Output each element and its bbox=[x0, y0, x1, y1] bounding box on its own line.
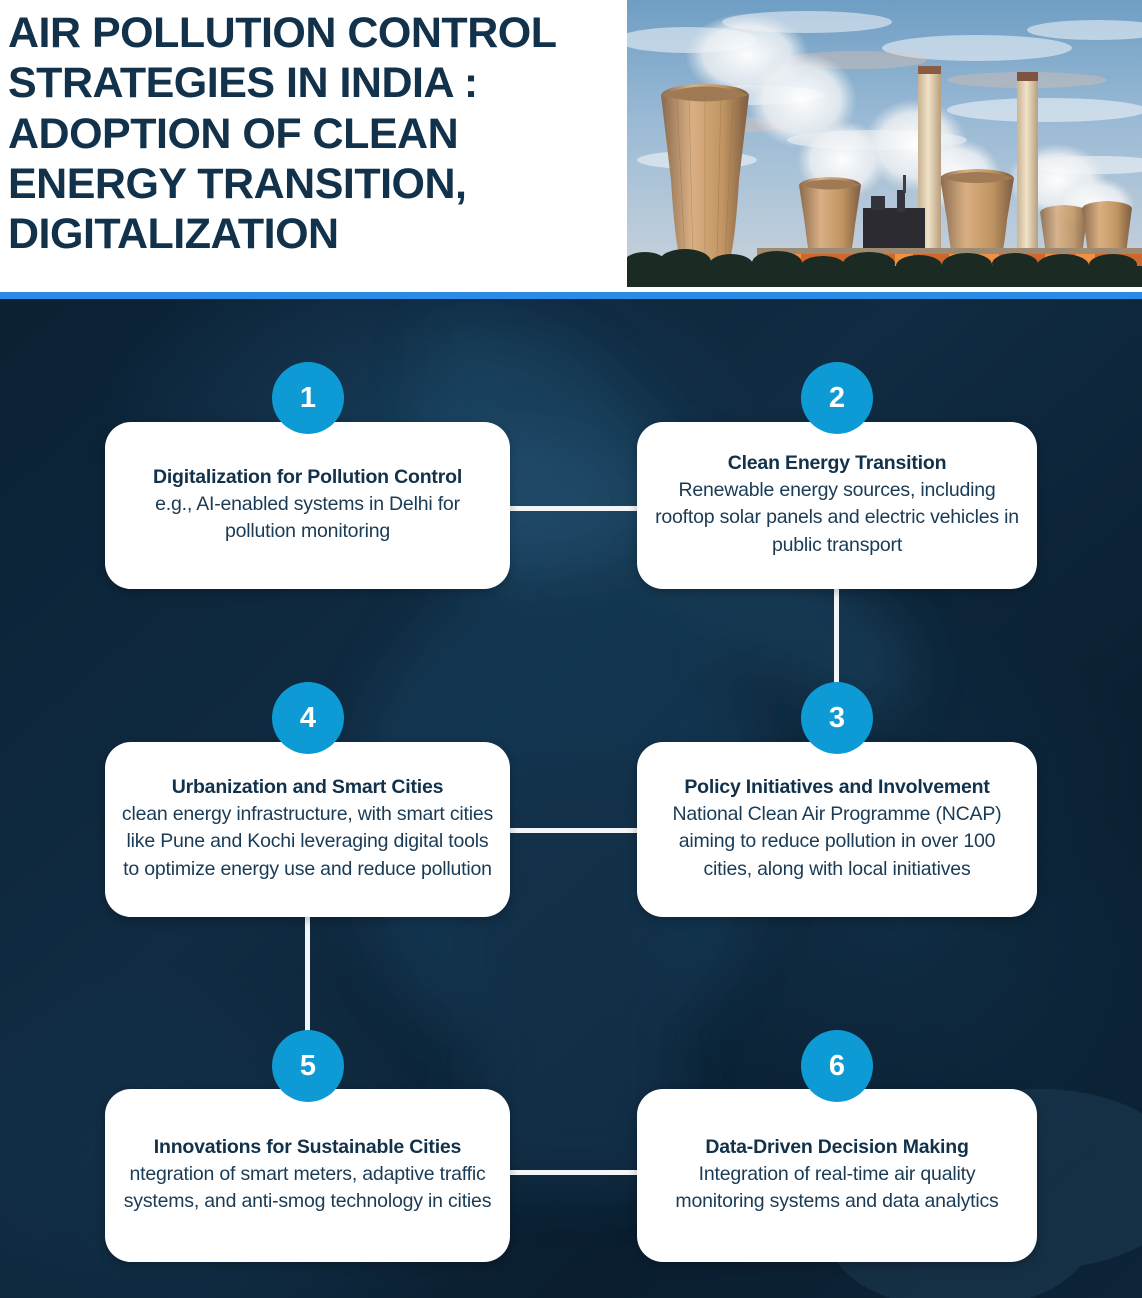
header: AIR POLLUTION CONTROL STRATEGIES IN INDI… bbox=[0, 0, 1142, 292]
connector-1-to-2 bbox=[510, 506, 637, 511]
step-badge-4[interactable]: 4 bbox=[272, 682, 344, 754]
step-badge-1[interactable]: 1 bbox=[272, 362, 344, 434]
step-card-5[interactable]: Innovations for Sustainable Cities ntegr… bbox=[105, 1089, 510, 1262]
step-card-3-description: National Clean Air Programme (NCAP) aimi… bbox=[653, 801, 1021, 884]
step-card-2-title: Clean Energy Transition bbox=[653, 451, 1021, 475]
power-plant-illustration bbox=[627, 0, 1142, 287]
step-badge-5[interactable]: 5 bbox=[272, 1030, 344, 1102]
step-card-4-description: clean energy infrastructure, with smart … bbox=[121, 801, 494, 884]
page-title: AIR POLLUTION CONTROL STRATEGIES IN INDI… bbox=[8, 8, 633, 259]
connector-4-to-3 bbox=[510, 828, 637, 833]
step-badge-2[interactable]: 2 bbox=[801, 362, 873, 434]
step-card-1[interactable]: Digitalization for Pollution Control e.g… bbox=[105, 422, 510, 589]
step-card-6[interactable]: Data-Driven Decision Making Integration … bbox=[637, 1089, 1037, 1262]
step-card-6-title: Data-Driven Decision Making bbox=[653, 1135, 1021, 1159]
step-card-1-description: e.g., AI-enabled systems in Delhi for po… bbox=[121, 491, 494, 546]
step-badge-3[interactable]: 3 bbox=[801, 682, 873, 754]
step-card-4[interactable]: Urbanization and Smart Cities clean ener… bbox=[105, 742, 510, 917]
step-card-2[interactable]: Clean Energy Transition Renewable energy… bbox=[637, 422, 1037, 589]
step-card-1-title: Digitalization for Pollution Control bbox=[121, 465, 494, 489]
header-divider bbox=[0, 292, 1142, 299]
connector-2-to-3 bbox=[834, 589, 839, 689]
connector-5-to-6 bbox=[510, 1170, 637, 1175]
power-plant-photo bbox=[627, 0, 1142, 287]
step-badge-6[interactable]: 6 bbox=[801, 1030, 873, 1102]
step-card-3[interactable]: Policy Initiatives and Involvement Natio… bbox=[637, 742, 1037, 917]
connector-4-to-5 bbox=[305, 917, 310, 1037]
step-card-4-title: Urbanization and Smart Cities bbox=[121, 775, 494, 799]
step-card-6-description: Integration of real-time air quality mon… bbox=[653, 1161, 1021, 1216]
step-card-5-title: Innovations for Sustainable Cities bbox=[121, 1135, 494, 1159]
step-card-5-description: ntegration of smart meters, adaptive tra… bbox=[121, 1161, 494, 1216]
step-card-2-description: Renewable energy sources, including roof… bbox=[653, 477, 1021, 560]
step-card-3-title: Policy Initiatives and Involvement bbox=[653, 775, 1021, 799]
